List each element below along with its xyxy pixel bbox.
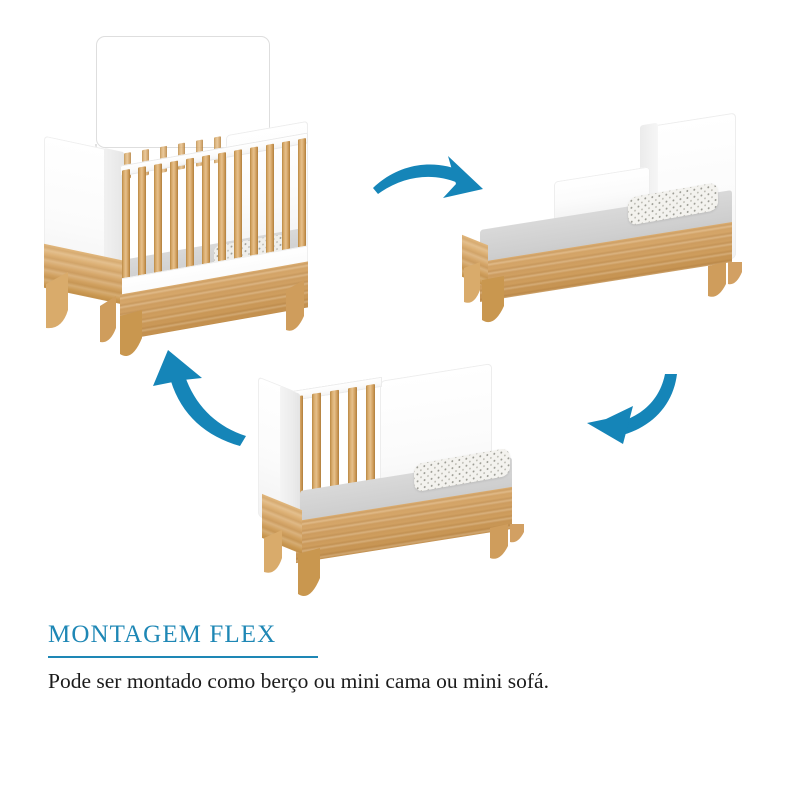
caption-underline [48,656,318,658]
product-mini-bed [462,112,774,322]
product-crib [38,26,328,346]
mini-sofa-legs [258,524,570,604]
arrow-sofa-to-crib [140,338,260,454]
caption-subtitle: Pode ser montado como berço ou mini cama… [48,669,748,694]
arrow-bed-to-sofa [575,372,695,468]
arrow-crib-to-bed [370,142,500,232]
mini-bed-legs [462,262,774,334]
infographic-canvas: MONTAGEM FLEX Pode ser montado como berç… [0,0,800,800]
caption-block: MONTAGEM FLEX Pode ser montado como berç… [48,620,748,694]
product-mini-sofa [258,362,570,588]
caption-title: MONTAGEM FLEX [48,620,748,650]
